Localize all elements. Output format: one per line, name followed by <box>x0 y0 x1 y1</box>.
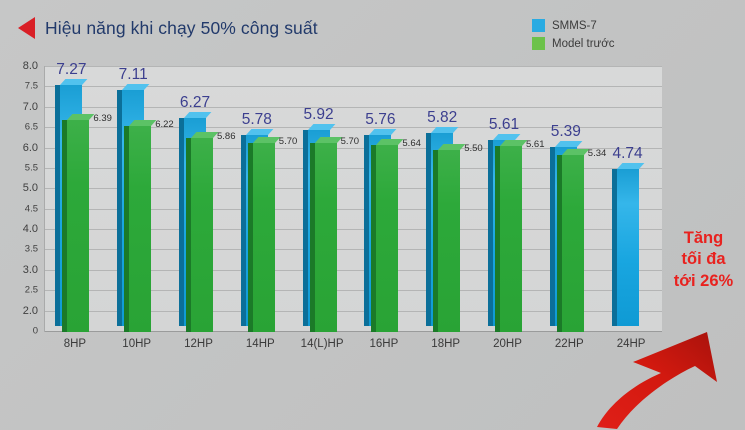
bar-value-label-model-truoc: 5.34 <box>588 148 607 159</box>
x-axis-tick-label: 12HP <box>184 338 213 350</box>
y-axis-tick-label: 7.5 <box>25 81 38 92</box>
bar-model-truoc <box>315 143 337 332</box>
bar-value-label-model-truoc: 5.70 <box>279 136 298 147</box>
bar-model-truoc <box>191 138 213 332</box>
x-axis-tick-label: 14HP <box>246 338 275 350</box>
y-axis-tick-label: 2.5 <box>25 285 38 296</box>
chart-legend: SMMS-7Model trước <box>532 19 615 55</box>
y-axis-tick-label: 5.0 <box>23 182 38 194</box>
bar-value-label-smms7: 6.27 <box>180 94 210 112</box>
bar-value-label-smms7: 5.39 <box>551 123 581 141</box>
y-axis-tick-label: 6.0 <box>23 142 38 154</box>
y-axis-tick-label: 7.0 <box>23 101 38 113</box>
y-axis-tick-label: 5.5 <box>25 162 38 173</box>
legend-label: Model trước <box>552 38 615 50</box>
triangle-left-icon <box>18 17 35 39</box>
bar-model-truoc <box>253 143 275 332</box>
bar-value-label-smms7: 7.27 <box>56 61 86 79</box>
callout-text: Tăng tối đa tới 26% <box>662 228 745 292</box>
bar-model-truoc <box>129 126 151 332</box>
chart-title-row: Hiệu năng khi chạy 50% công suất <box>18 17 318 39</box>
y-axis-tick-label: 3.5 <box>25 244 38 255</box>
callout-line-3: tới 26% <box>662 271 745 292</box>
y-axis-tick-label: 6.5 <box>25 122 38 133</box>
x-axis-tick-label: 14(L)HP <box>301 338 344 350</box>
legend-item: Model trước <box>532 37 615 50</box>
bar-value-label-model-truoc: 5.70 <box>341 136 360 147</box>
bars-layer: 7.276.397.116.226.275.865.785.705.925.70… <box>44 66 662 332</box>
curved-up-right-arrow-icon <box>595 330 745 430</box>
callout-line-1: Tăng <box>662 228 745 249</box>
bar-value-label-model-truoc: 5.61 <box>526 139 545 150</box>
x-axis-tick-label: 8HP <box>64 338 86 350</box>
y-axis-tick-label: 0 <box>33 326 38 337</box>
chart-container: Hiệu năng khi chạy 50% công suất SMMS-7M… <box>0 0 745 430</box>
legend-item: SMMS-7 <box>532 19 615 32</box>
page-title: Hiệu năng khi chạy 50% công suất <box>45 18 318 39</box>
bar-value-label-smms7: 5.61 <box>489 116 519 134</box>
bar-value-label-model-truoc: 5.50 <box>464 143 483 154</box>
bar-value-label-smms7: 5.82 <box>427 109 457 127</box>
x-axis-tick-label: 22HP <box>555 338 584 350</box>
x-axis-tick-label: 20HP <box>493 338 522 350</box>
y-axis-tick-label: 4.0 <box>23 223 38 235</box>
bar-value-label-model-truoc: 5.64 <box>402 138 421 149</box>
bar-model-truoc <box>500 146 522 332</box>
bar-value-label-smms7: 4.74 <box>613 145 643 163</box>
bar-value-label-model-truoc: 6.22 <box>155 119 174 130</box>
bar-value-label-model-truoc: 5.86 <box>217 131 236 142</box>
x-axis-labels: 8HP10HP12HP14HP14(L)HP16HP18HP20HP22HP24… <box>44 338 662 358</box>
callout-line-2: tối đa <box>662 249 745 270</box>
x-axis-tick-label: 18HP <box>431 338 460 350</box>
legend-label: SMMS-7 <box>552 20 597 32</box>
bar-smms7 <box>617 169 639 326</box>
y-axis-tick-label: 4.5 <box>25 203 38 214</box>
bar-value-label-smms7: 5.78 <box>242 111 272 129</box>
bar-model-truoc <box>562 155 584 332</box>
y-axis-tick-label: 3.0 <box>23 264 38 276</box>
legend-swatch-icon <box>532 37 545 50</box>
bar-model-truoc <box>376 145 398 332</box>
y-axis-tick-label: 2.0 <box>23 305 38 317</box>
bar-model-truoc <box>67 120 89 332</box>
bar-value-label-smms7: 5.76 <box>365 111 395 129</box>
bar-value-label-model-truoc: 6.39 <box>93 113 112 124</box>
y-axis-tick-label: 8.0 <box>23 60 38 72</box>
y-axis-labels: 8.07.57.06.56.05.55.04.54.03.53.02.52.00 <box>0 66 38 332</box>
x-axis-tick-label: 10HP <box>122 338 151 350</box>
x-axis-tick-label: 16HP <box>370 338 399 350</box>
bar-value-label-smms7: 5.92 <box>304 106 334 124</box>
bar-model-truoc <box>438 150 460 332</box>
bar-value-label-smms7: 7.11 <box>119 66 148 84</box>
legend-swatch-icon <box>532 19 545 32</box>
